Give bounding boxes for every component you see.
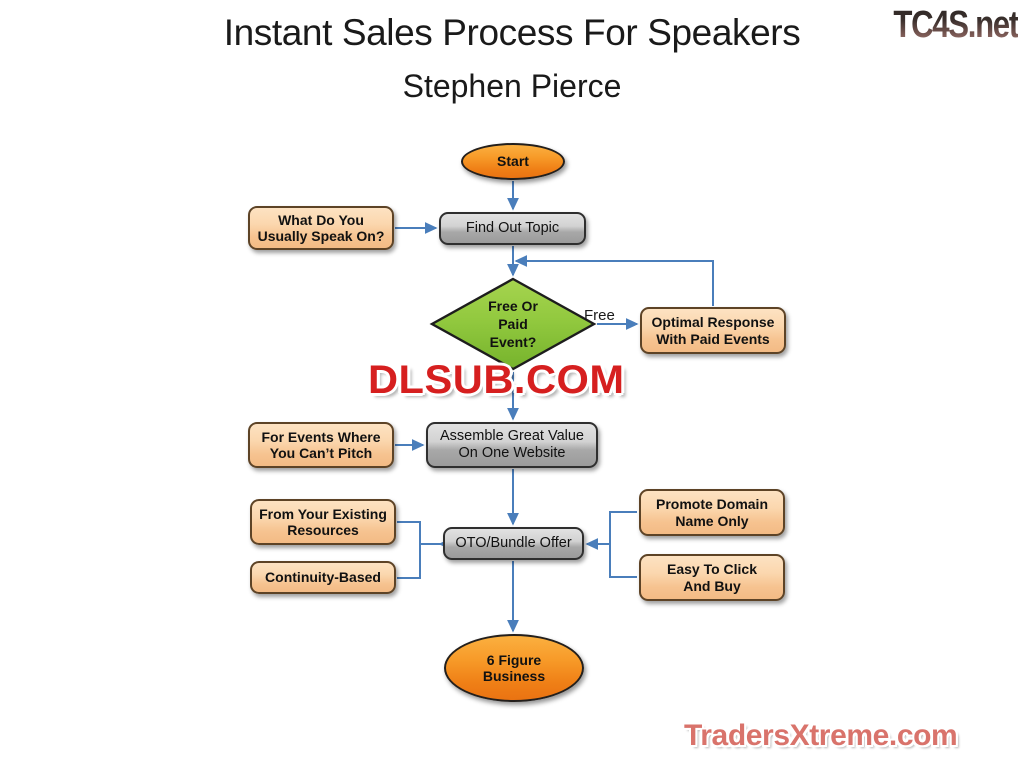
node-optimal-line2: With Paid Events: [656, 331, 769, 347]
node-promote-line1: Promote Domain: [656, 496, 768, 512]
node-decision-label: Free Or Paid Event?: [430, 277, 596, 371]
node-decision-line1: Free Or: [488, 297, 538, 315]
tradersxtreme-watermark: TradersXtreme.com: [684, 719, 957, 753]
node-easy-click-line2: And Buy: [683, 578, 741, 594]
node-continuity-based[interactable]: Continuity-Based: [250, 561, 396, 594]
node-events-pitch-line2: You Can’t Pitch: [270, 445, 372, 461]
edge-label-free: Free: [584, 307, 615, 324]
node-assemble-line2: On One Website: [459, 445, 566, 462]
node-decision-line3: Event?: [490, 333, 537, 351]
node-promote-line2: Name Only: [675, 513, 748, 529]
node-optimal-line1: Optimal Response: [652, 314, 775, 330]
node-easy-click-line1: Easy To Click: [667, 561, 757, 577]
node-continuity-label: Continuity-Based: [265, 569, 381, 585]
node-events-pitch-line1: For Events Where: [261, 429, 380, 445]
node-decision-line2: Paid: [498, 315, 528, 333]
node-start-label: Start: [497, 153, 529, 169]
node-6-figure-business[interactable]: 6 Figure Business: [444, 634, 584, 702]
node-start[interactable]: Start: [461, 143, 565, 180]
node-existing-res-line1: From Your Existing: [259, 506, 387, 522]
node-what-speak-line2: Usually Speak On?: [258, 228, 385, 244]
node-for-events-where-you-cant-pitch[interactable]: For Events Where You Can’t Pitch: [248, 422, 394, 468]
node-promote-domain-name-only[interactable]: Promote Domain Name Only: [639, 489, 785, 536]
node-free-or-paid-event[interactable]: Free Or Paid Event?: [430, 277, 596, 371]
node-six-figure-line2: Business: [483, 668, 545, 684]
node-oto-bundle-offer[interactable]: OTO/Bundle Offer: [443, 527, 584, 560]
node-six-figure-line1: 6 Figure: [487, 652, 541, 668]
dlsub-watermark: DLSUB.COM: [368, 358, 625, 403]
node-easy-to-click-and-buy[interactable]: Easy To Click And Buy: [639, 554, 785, 601]
node-optimal-response-with-paid-events[interactable]: Optimal Response With Paid Events: [640, 307, 786, 354]
node-assemble-line1: Assemble Great Value: [440, 428, 584, 445]
node-what-speak-line1: What Do You: [278, 212, 364, 228]
node-find-topic-label: Find Out Topic: [466, 220, 559, 237]
node-assemble-great-value-on-one-website[interactable]: Assemble Great Value On One Website: [426, 422, 598, 468]
node-what-do-you-usually-speak-on[interactable]: What Do You Usually Speak On?: [248, 206, 394, 250]
node-from-your-existing-resources[interactable]: From Your Existing Resources: [250, 499, 396, 545]
node-find-out-topic[interactable]: Find Out Topic: [439, 212, 586, 245]
node-existing-res-line2: Resources: [287, 522, 359, 538]
node-oto-label: OTO/Bundle Offer: [455, 535, 571, 552]
